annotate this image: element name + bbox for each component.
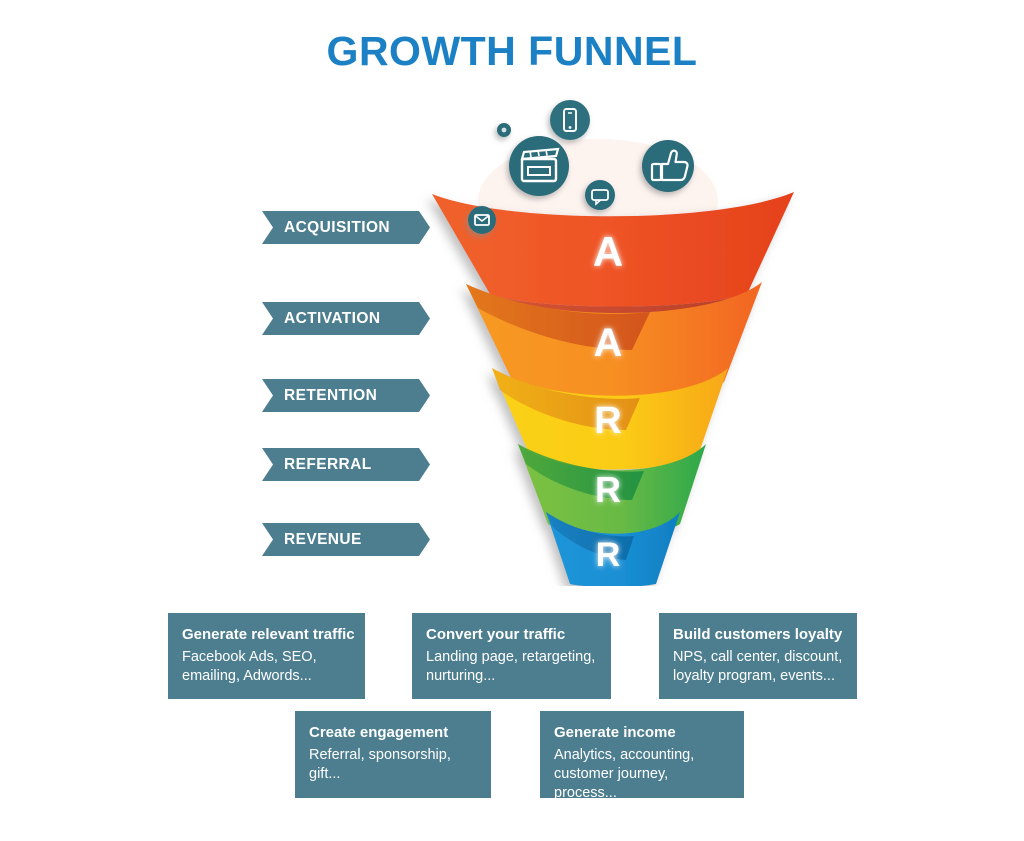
description-card-build-customers-loyalty[interactable]: Build customers loyalty NPS, call center… bbox=[659, 613, 857, 699]
funnel-letter-referral: R bbox=[595, 469, 621, 510]
stage-banner-retention[interactable]: RETENTION bbox=[262, 379, 430, 412]
stage-banner-label: REFERRAL bbox=[262, 456, 372, 474]
funnel-letter-revenue: R bbox=[596, 536, 621, 574]
card-body: Referral, sponsorship,gift... bbox=[309, 746, 477, 784]
description-card-create-engagement[interactable]: Create engagement Referral, sponsorship,… bbox=[295, 711, 491, 798]
card-body: NPS, call center, discount,loyalty progr… bbox=[673, 648, 843, 686]
card-title: Convert your traffic bbox=[426, 626, 597, 644]
stage-banner-label: ACTIVATION bbox=[262, 310, 380, 328]
card-title: Generate income bbox=[554, 724, 730, 742]
infographic-canvas: GROWTH FUNNEL ACQUISITION ACTIVATION RET… bbox=[0, 0, 1024, 841]
card-body: Facebook Ads, SEO,emailing, Adwords... bbox=[182, 648, 351, 686]
card-body: Landing page, retargeting,nurturing... bbox=[426, 648, 597, 686]
card-body: Analytics, accounting,customer journey, … bbox=[554, 746, 730, 803]
card-title: Build customers loyalty bbox=[673, 626, 843, 644]
clapperboard-icon bbox=[509, 136, 569, 196]
page-title: GROWTH FUNNEL bbox=[0, 28, 1024, 75]
funnel-letter-activation: A bbox=[594, 321, 623, 365]
description-card-generate-relevant-traffic[interactable]: Generate relevant traffic Facebook Ads, … bbox=[168, 613, 365, 699]
description-card-convert-your-traffic[interactable]: Convert your traffic Landing page, retar… bbox=[412, 613, 611, 699]
funnel-letter-retention: R bbox=[594, 400, 621, 442]
chat-bubble-icon bbox=[585, 180, 615, 210]
stage-banner-referral[interactable]: REFERRAL bbox=[262, 448, 430, 481]
description-card-generate-income[interactable]: Generate income Analytics, accounting,cu… bbox=[540, 711, 744, 798]
funnel-graphic: A A R R R bbox=[418, 96, 808, 586]
stage-banner-label: ACQUISITION bbox=[262, 219, 390, 237]
stage-banner-revenue[interactable]: REVENUE bbox=[262, 523, 430, 556]
stage-banner-activation[interactable]: ACTIVATION bbox=[262, 302, 430, 335]
small-dot-icon bbox=[497, 123, 511, 137]
mobile-phone-icon bbox=[550, 100, 590, 140]
thumbs-up-icon bbox=[642, 140, 694, 192]
funnel-letter-acquisition: A bbox=[593, 228, 623, 275]
stage-banner-label: REVENUE bbox=[262, 531, 362, 549]
stage-banner-label: RETENTION bbox=[262, 387, 377, 405]
card-title: Generate relevant traffic bbox=[182, 626, 351, 644]
stage-banner-acquisition[interactable]: ACQUISITION bbox=[262, 211, 430, 244]
envelope-icon bbox=[468, 206, 496, 234]
card-title: Create engagement bbox=[309, 724, 477, 742]
